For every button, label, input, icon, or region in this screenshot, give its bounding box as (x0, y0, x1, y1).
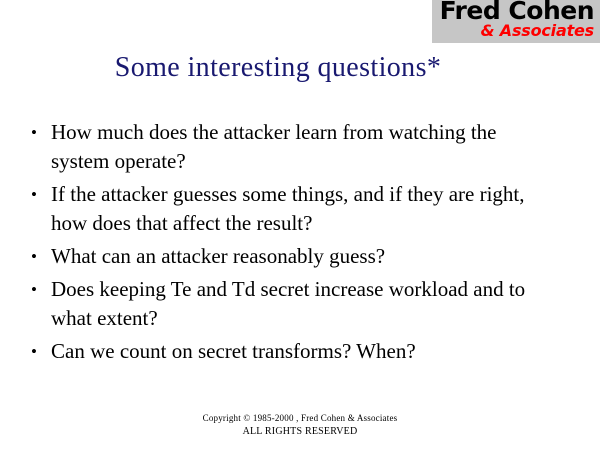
slide-canvas: Fred Cohen & Associates Some interesting… (0, 0, 600, 450)
bullet-item-text: How much does the attacker learn from wa… (51, 118, 558, 176)
list-item: • What can an attacker reasonably guess? (28, 242, 558, 271)
list-item: • How much does the attacker learn from … (28, 118, 558, 176)
copyright-text: Copyright © 1985-2000 , Fred Cohen & Ass… (0, 412, 600, 425)
list-item: • Does keeping Te and Td secret increase… (28, 275, 558, 333)
bullet-marker-icon: • (31, 118, 37, 147)
all-rights-reserved-text: ALL RIGHTS RESERVED (0, 425, 600, 439)
list-item: • Can we count on secret transforms? Whe… (28, 337, 558, 366)
bullet-item-text: If the attacker guesses some things, and… (51, 180, 558, 238)
bullet-marker-icon: • (31, 275, 37, 304)
bullet-marker-icon: • (31, 180, 37, 209)
fred-cohen-logo: Fred Cohen & Associates (432, 0, 600, 43)
bullet-list: • How much does the attacker learn from … (28, 118, 558, 370)
bullet-marker-icon: • (31, 337, 37, 366)
slide-footer: Copyright © 1985-2000 , Fred Cohen & Ass… (0, 412, 600, 439)
bullet-item-text: Can we count on secret transforms? When? (51, 337, 558, 366)
list-item: • If the attacker guesses some things, a… (28, 180, 558, 238)
bullet-item-text: What can an attacker reasonably guess? (51, 242, 558, 271)
slide-title: Some interesting questions* (0, 52, 556, 84)
bullet-marker-icon: • (31, 242, 37, 271)
bullet-item-text: Does keeping Te and Td secret increase w… (51, 275, 558, 333)
logo-tagline: & Associates (481, 22, 594, 40)
